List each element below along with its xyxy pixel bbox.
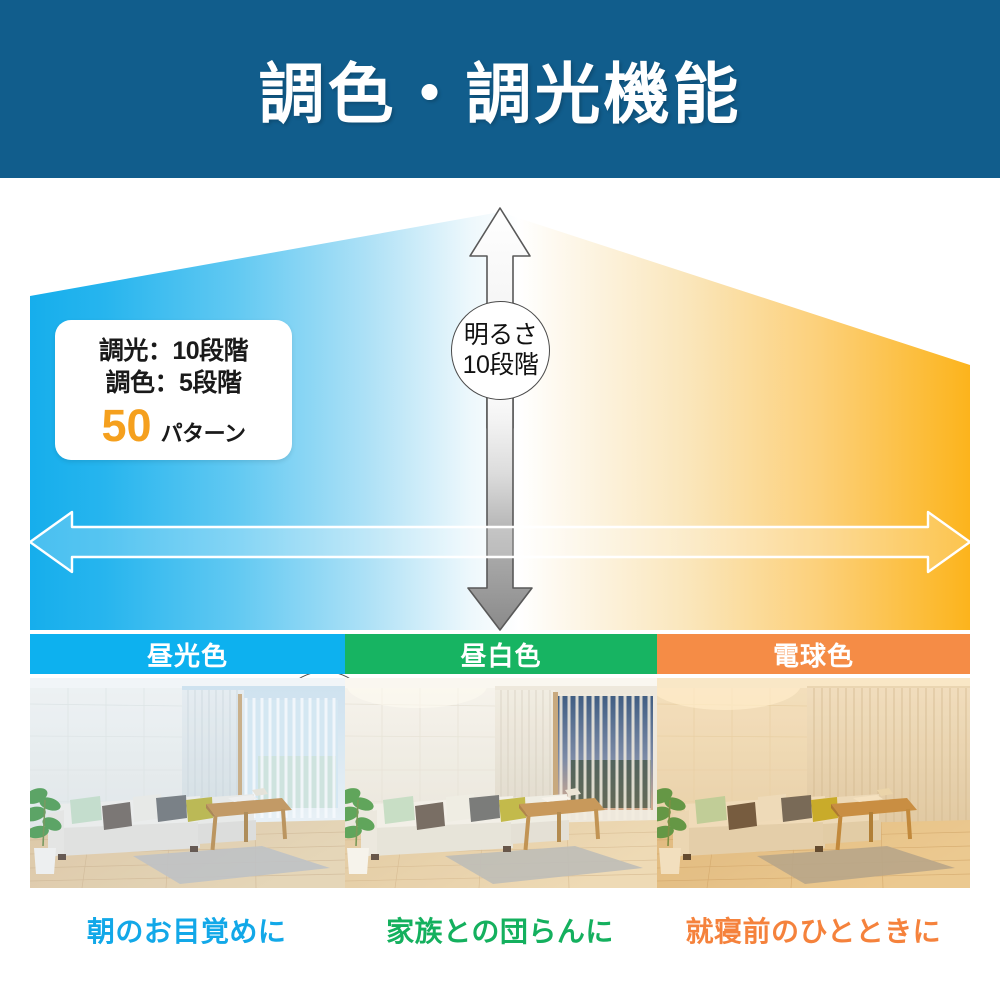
band-daylight-label: 昼光色 (147, 636, 228, 673)
dimming-steps-label: 調光：10段階 (99, 335, 248, 367)
band-neutral-white-label: 昼白色 (460, 636, 541, 673)
brightness-axis-label-2: 10段階 (463, 351, 539, 381)
color-temperature-bands: 昼光色 昼白色 電球色 (30, 634, 970, 674)
pattern-unit: パターン (161, 416, 246, 448)
spec-info-card: 調光：10段階 調色：5段階 50 パターン (55, 320, 292, 460)
page-title: 調色・調光機能 (0, 0, 1000, 178)
infographic-root: 調色・調光機能 (0, 0, 1000, 1000)
header-banner: 調色・調光機能 (0, 0, 1000, 178)
caption-row: 朝のお目覚めに 家族との団らんに 就寝前のひとときに (30, 905, 970, 955)
room-photo-neutral-white (345, 678, 657, 888)
band-neutral-white: 昼白色 (345, 634, 657, 674)
caption-warm-bulb-text: 就寝前のひとときに (685, 910, 941, 950)
brightness-axis-label-1: 明るさ (464, 321, 538, 351)
room-photo-daylight (30, 678, 345, 888)
color-brightness-diagram: 調光：10段階 調色：5段階 50 パターン 明るさ 10段階 光色 5段階 (0, 178, 1000, 678)
room-photo-warm-bulb (657, 678, 970, 888)
caption-daylight-text: 朝のお目覚めに (87, 910, 287, 950)
caption-daylight: 朝のお目覚めに (30, 905, 343, 955)
pattern-total: 50 パターン (102, 403, 246, 448)
caption-neutral-white-text: 家族との団らんに (386, 910, 614, 950)
caption-warm-bulb: 就寝前のひとときに (657, 905, 970, 955)
room-photo-row (30, 678, 970, 888)
band-warm-bulb-label: 電球色 (773, 636, 854, 673)
band-daylight: 昼光色 (30, 634, 345, 674)
pattern-count: 50 (102, 403, 152, 448)
color-steps-label: 調色：5段階 (106, 367, 242, 399)
caption-neutral-white: 家族との団らんに (343, 905, 656, 955)
brightness-axis-badge: 明るさ 10段階 (451, 301, 550, 400)
band-warm-bulb: 電球色 (657, 634, 970, 674)
